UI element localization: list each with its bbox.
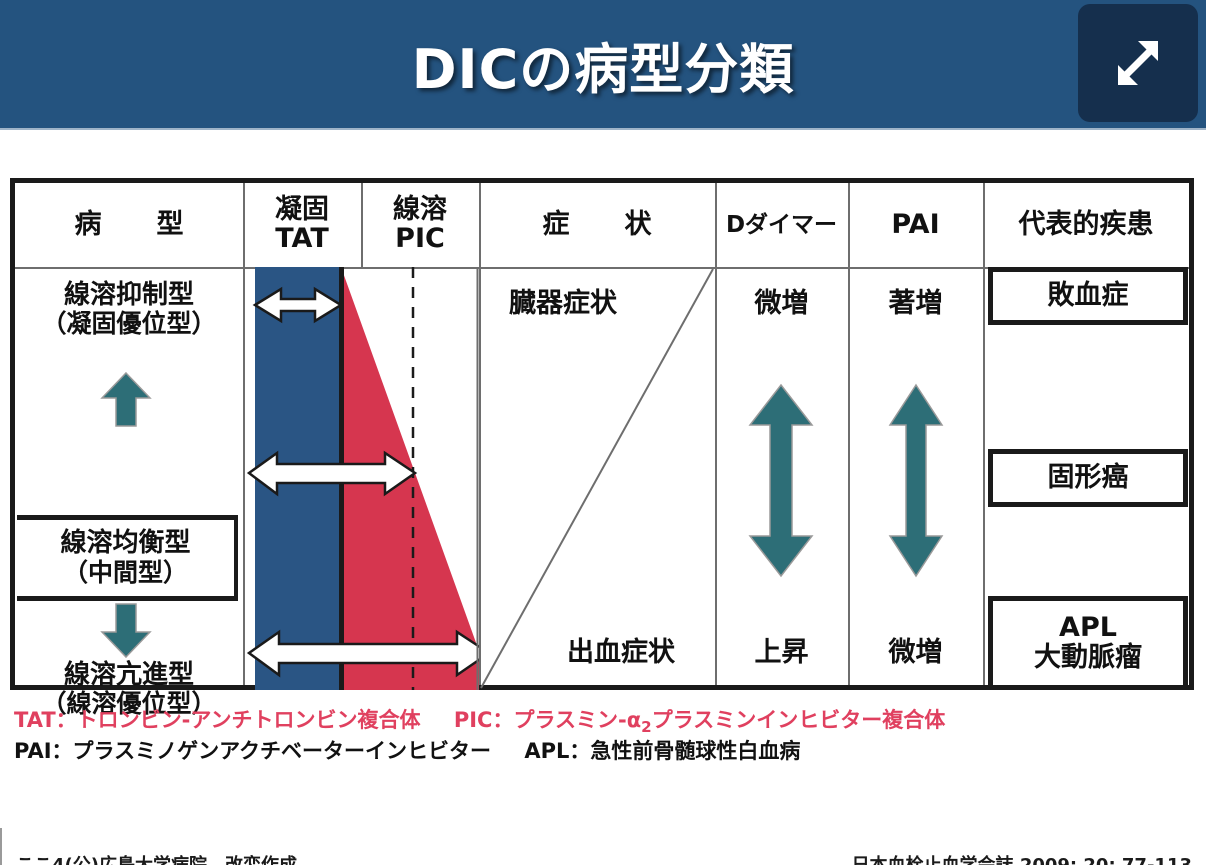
expand-button[interactable] bbox=[1078, 4, 1198, 122]
footnote-pic-subscript: 2 bbox=[641, 718, 652, 736]
type-name-enhanced: 線溶亢進型 bbox=[15, 661, 243, 690]
column-header-pic: 線溶 PIC bbox=[361, 183, 479, 267]
column-header-ddimer: Dダイマー bbox=[715, 183, 848, 267]
disease-label-aortic-aneurysm: 大動脈瘤 bbox=[1034, 643, 1142, 673]
ddimer-bottom-value: 上昇 bbox=[715, 630, 848, 669]
symptom-column: 臓器症状 出血症状 bbox=[479, 267, 715, 690]
ddimer-top-value: 微増 bbox=[715, 281, 848, 320]
column-header-ddimer-label: Dダイマー bbox=[726, 213, 837, 237]
teal-up-arrow-icon bbox=[100, 371, 152, 431]
pai-top-value: 著増 bbox=[848, 281, 983, 320]
column-header-disease-label: 代表的疾患 bbox=[1019, 211, 1154, 240]
type-column: 線溶抑制型 （凝固優位型） 線溶均衡型 （中間型） 線溶亢進型 bbox=[15, 267, 243, 690]
column-header-symptom: 症 状 bbox=[479, 183, 715, 267]
symptom-bottom-label: 出血症状 bbox=[567, 630, 675, 669]
column-header-tat-line1: 凝固 bbox=[275, 196, 329, 225]
column-header-type: 病 型 bbox=[15, 183, 243, 267]
footnote-pic-definition-head: PIC：プラスミン-α bbox=[454, 708, 641, 732]
column-header-disease: 代表的疾患 bbox=[983, 183, 1189, 267]
column-header-pic-line1: 線溶 bbox=[393, 196, 447, 225]
footnote-line-1: TAT：トロンビン-アンチトロンビン複合体 PIC：プラスミン-α2プラスミンイ… bbox=[14, 706, 1194, 737]
footnote-pic-definition-tail: プラスミンインヒビター複合体 bbox=[652, 708, 946, 732]
type-row-balanced: 線溶均衡型 （中間型） bbox=[17, 515, 238, 601]
type-row-enhanced: 線溶亢進型 （線溶優位型） bbox=[15, 601, 243, 690]
column-header-tat: 凝固 TAT bbox=[243, 183, 361, 267]
header-gap bbox=[0, 130, 1206, 178]
column-header-type-label: 病 型 bbox=[61, 211, 198, 240]
disease-box-solid-tumor: 固形癌 bbox=[988, 449, 1188, 507]
dic-classification-table: 病 型 凝固 TAT 線溶 PIC 症 状 Dダイマー PAI 代表的疾患 線溶… bbox=[10, 178, 1194, 690]
symptom-diagonal-line bbox=[481, 269, 713, 688]
header-bar: DICの病型分類 bbox=[0, 0, 1206, 130]
disease-label-solid-tumor: 固形癌 bbox=[1048, 463, 1129, 493]
type-row-suppressed: 線溶抑制型 （凝固優位型） bbox=[15, 267, 243, 431]
tat-pic-graph bbox=[243, 267, 479, 690]
footnotes: TAT：トロンビン-アンチトロンビン複合体 PIC：プラスミン-α2プラスミンイ… bbox=[14, 706, 1194, 766]
table-header-row: 病 型 凝固 TAT 線溶 PIC 症 状 Dダイマー PAI 代表的疾患 bbox=[15, 183, 1189, 267]
pai-column: 著増 微増 bbox=[848, 267, 983, 690]
footnote-line-2: PAI：プラスミノゲンアクチベーターインヒビター APL：急性前骨髄球性白血病 bbox=[14, 737, 1194, 765]
disease-box-apl: APL 大動脈瘤 bbox=[988, 596, 1188, 690]
disease-label-sepsis: 敗血症 bbox=[1048, 281, 1129, 311]
symptom-top-label: 臓器症状 bbox=[509, 281, 617, 320]
expand-diagonal-arrows-icon bbox=[1106, 31, 1170, 95]
column-header-pic-line2: PIC bbox=[395, 225, 445, 254]
column-header-pai: PAI bbox=[848, 183, 983, 267]
footnote-tat-definition: TAT：トロンビン-アンチトロンビン複合体 bbox=[14, 708, 421, 732]
type-sub-balanced: （中間型） bbox=[63, 559, 188, 588]
teal-down-arrow-icon bbox=[100, 603, 152, 663]
disease-column: 敗血症 固形癌 APL 大動脈瘤 bbox=[983, 267, 1189, 690]
ddimer-column: 微増 上昇 bbox=[715, 267, 848, 690]
footnote-pai-definition: PAI：プラスミノゲンアクチベーターインヒビター bbox=[14, 739, 491, 763]
column-header-pai-label: PAI bbox=[891, 211, 939, 240]
ddimer-double-arrow-icon bbox=[748, 383, 814, 582]
footnote-apl-definition: APL：急性前骨髄球性白血病 bbox=[524, 739, 800, 763]
type-name-balanced: 線溶均衡型 bbox=[60, 529, 190, 559]
credit-left: ここ4(公)広島大学病院 改変作成 bbox=[16, 851, 297, 865]
column-header-symptom-label: 症 状 bbox=[529, 211, 666, 240]
disease-label-apl: APL bbox=[1059, 613, 1117, 643]
pai-bottom-value: 微増 bbox=[848, 630, 983, 669]
pai-double-arrow-icon bbox=[888, 383, 944, 582]
slide-left-edge bbox=[0, 828, 2, 865]
column-header-tat-line2: TAT bbox=[275, 225, 329, 254]
type-label-suppressed: 線溶抑制型 （凝固優位型） bbox=[15, 281, 243, 338]
disease-box-sepsis: 敗血症 bbox=[988, 267, 1188, 325]
credit-right: 日本血栓止血学会誌 2009; 20: 77-113 bbox=[852, 851, 1192, 865]
page-title: DICの病型分類 bbox=[0, 0, 1206, 128]
type-sub-suppressed: （凝固優位型） bbox=[15, 310, 243, 338]
type-name-suppressed: 線溶抑制型 bbox=[15, 281, 243, 310]
